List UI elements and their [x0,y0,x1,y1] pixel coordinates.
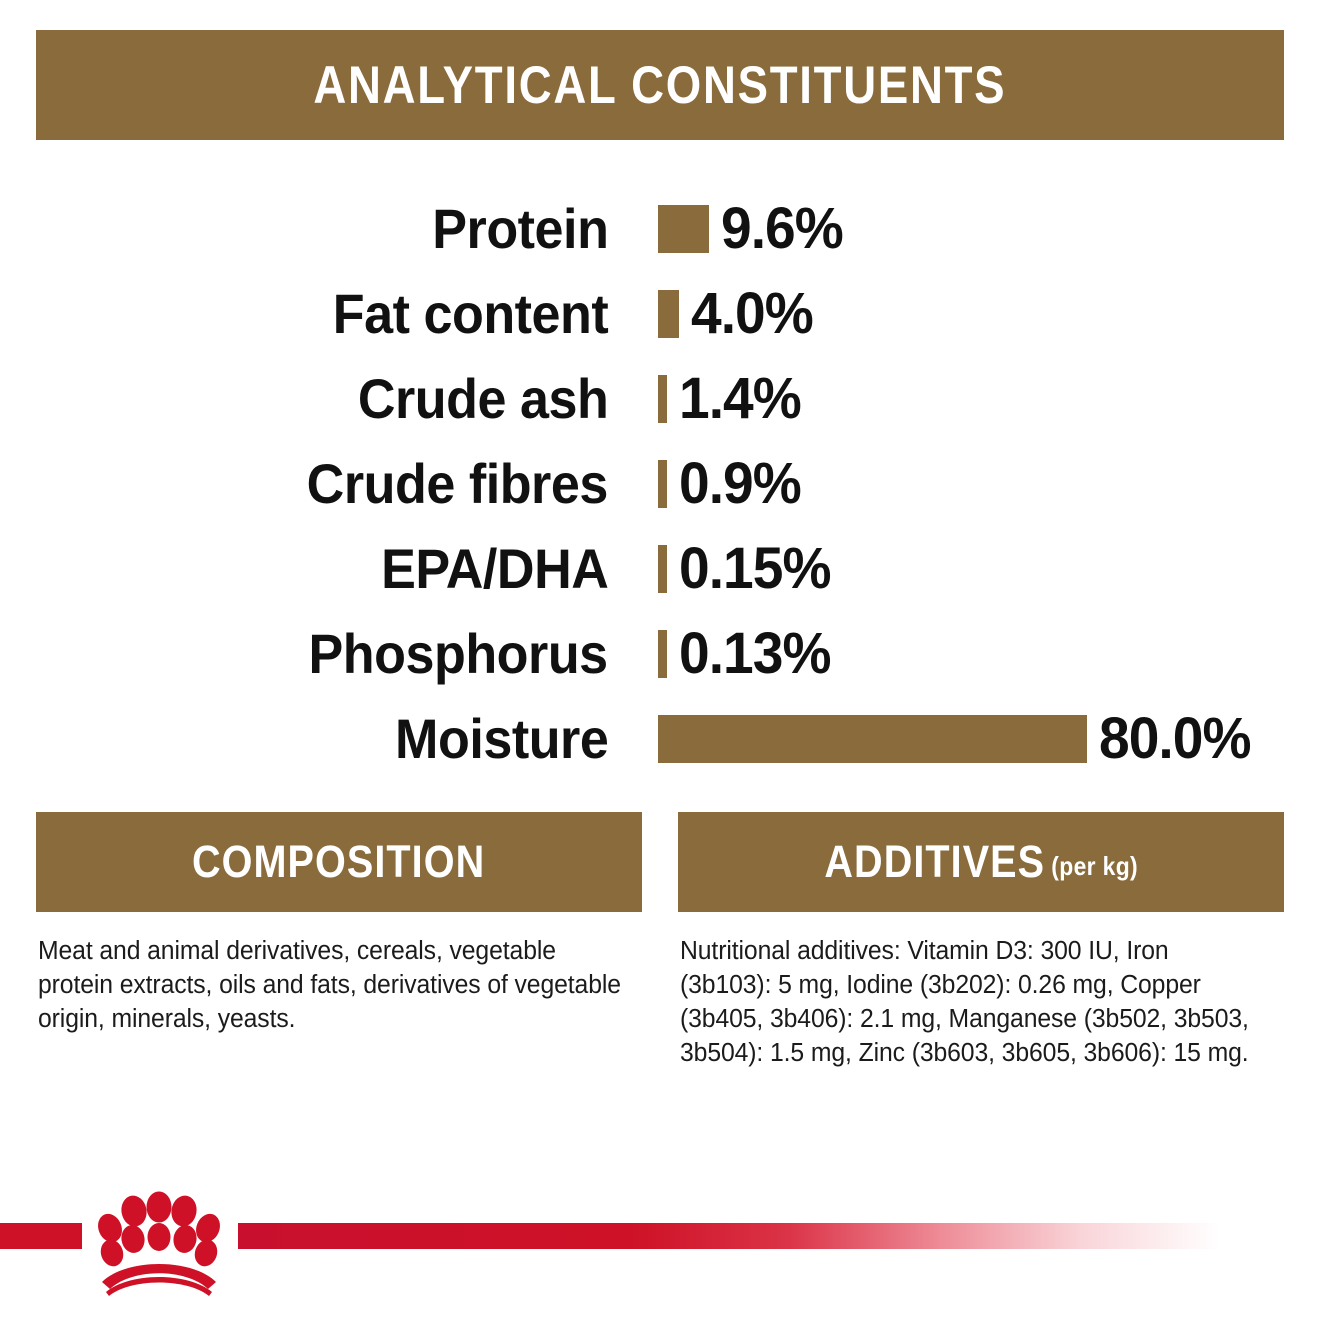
footer-rule-left [0,1223,82,1249]
constituent-bar [658,290,679,338]
constituent-row: Crude fibres0.9% [36,441,1284,526]
royal-canin-crown-icon [88,1190,230,1302]
constituent-label: Protein [432,201,608,257]
footer-rule-right [238,1223,1220,1249]
constituent-bar [658,545,667,593]
analytical-constituents-header: ANALYTICAL CONSTITUENTS [36,30,1284,140]
constituent-row: EPA/DHA0.15% [36,526,1284,611]
constituent-label: EPA/DHA [381,541,608,597]
constituent-bar [658,715,1087,763]
composition-text: Meat and animal derivatives, cereals, ve… [38,934,637,1036]
composition-heading: COMPOSITION [192,836,485,888]
additives-heading-note: (per kg) [1051,851,1138,881]
constituent-label: Moisture [395,711,608,767]
constituent-label: Crude fibres [307,456,608,512]
constituent-row: Protein9.6% [36,186,1284,271]
constituent-label: Fat content [332,286,608,342]
constituent-row: Moisture80.0% [36,696,1284,781]
constituent-label: Phosphorus [309,626,608,682]
additives-text: Nutritional additives: Vitamin D3: 300 I… [680,934,1262,1070]
constituent-value: 0.13% [679,625,830,683]
page-title: ANALYTICAL CONSTITUENTS [314,55,1007,116]
nutrition-panel: ANALYTICAL CONSTITUENTS Protein9.6%Fat c… [0,0,1320,1320]
additives-heading: ADDITIVES [824,836,1045,887]
additives-heading-group: ADDITIVES(per kg) [824,836,1138,888]
additives-header: ADDITIVES(per kg) [678,812,1284,912]
constituent-value: 0.15% [679,540,830,598]
constituents-chart: Protein9.6%Fat content4.0%Crude ash1.4%C… [36,186,1284,781]
constituent-bar [658,460,667,508]
composition-header: COMPOSITION [36,812,642,912]
constituent-bar [658,375,667,423]
constituent-value: 1.4% [679,370,801,428]
constituent-value: 4.0% [691,285,813,343]
constituent-value: 9.6% [721,200,843,258]
constituent-bar [658,630,667,678]
constituent-label: Crude ash [357,371,608,427]
constituent-row: Crude ash1.4% [36,356,1284,441]
constituent-row: Phosphorus0.13% [36,611,1284,696]
constituent-row: Fat content4.0% [36,271,1284,356]
constituent-value: 0.9% [679,455,801,513]
constituent-value: 80.0% [1099,710,1250,768]
constituent-bar [658,205,709,253]
